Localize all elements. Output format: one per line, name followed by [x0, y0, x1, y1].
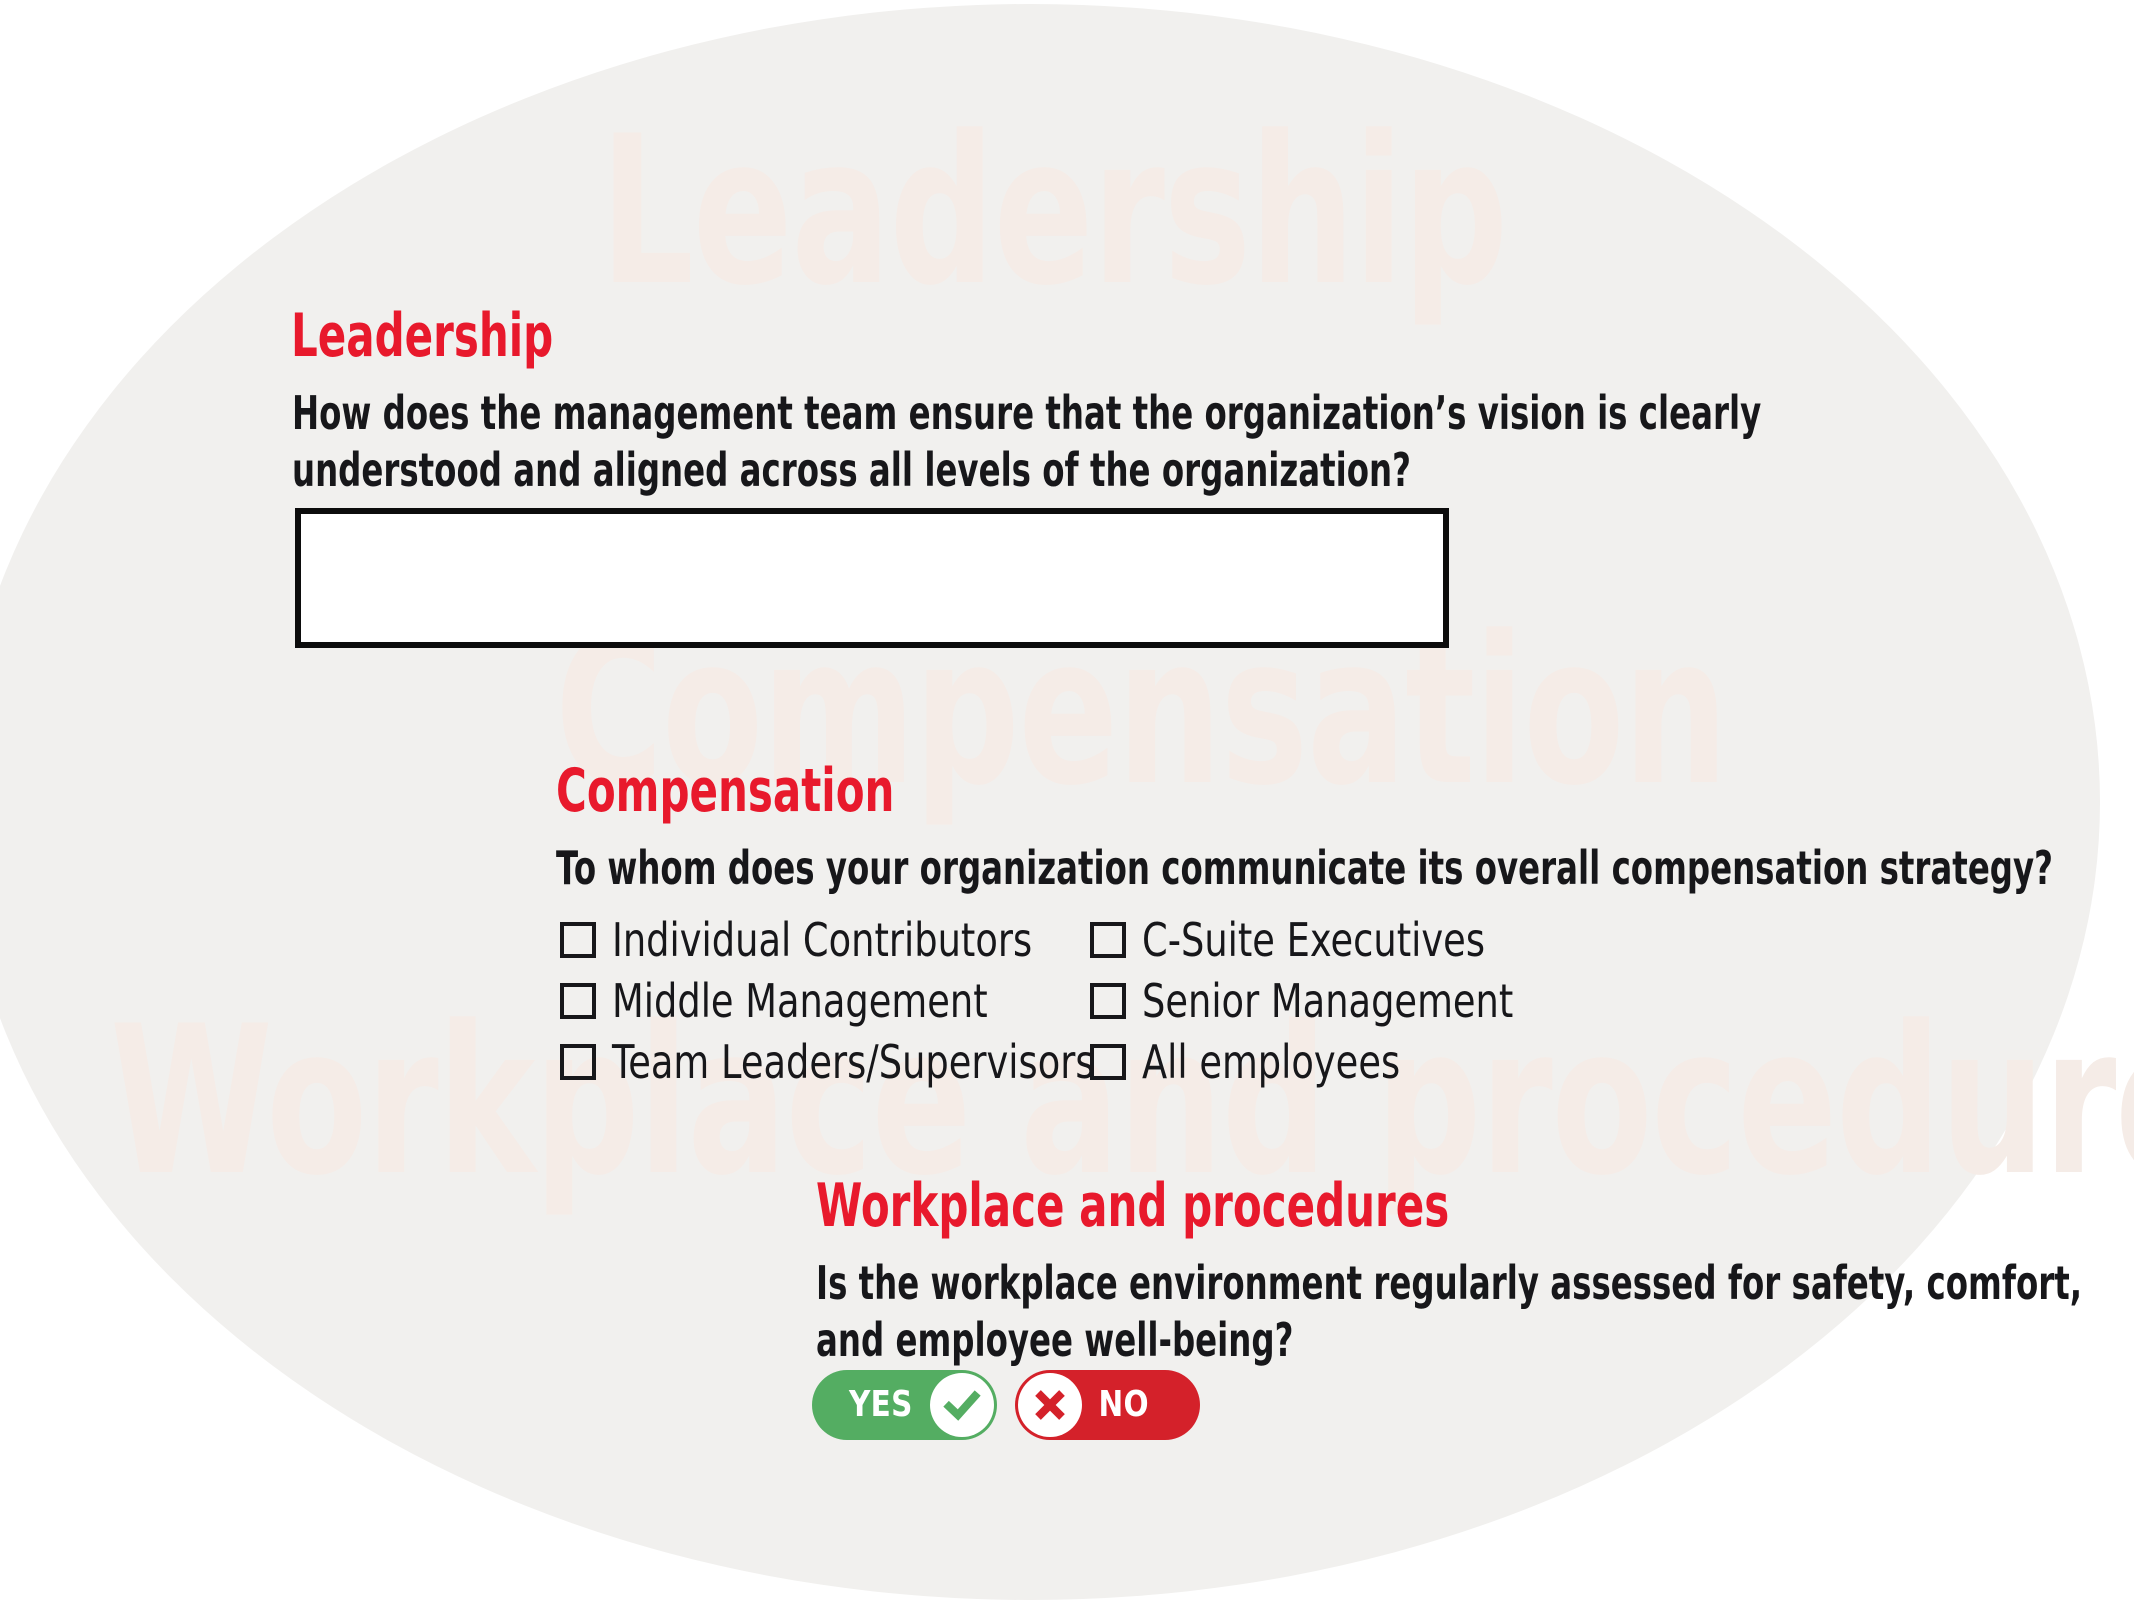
- section-title-workplace-and-procedures: Workplace and procedures: [816, 1175, 1449, 1238]
- workplace-question-line-1: Is the workplace environment regularly a…: [816, 1255, 2082, 1312]
- no-button-label: NO: [1099, 1387, 1149, 1423]
- checkbox-icon[interactable]: [1090, 1044, 1126, 1080]
- checkbox-label: Middle Management: [612, 978, 988, 1024]
- poster-canvas: Leadership Compensation Workplace and pr…: [0, 0, 2134, 1603]
- checkbox-row-c-suite-executives[interactable]: C-Suite Executives: [1090, 910, 1606, 970]
- checkbox-label: Individual Contributors: [612, 917, 1032, 963]
- workplace-answer-toggle-group: YES NO: [812, 1370, 1200, 1440]
- section-title-leadership: Leadership: [291, 305, 553, 368]
- cross-icon: [1018, 1373, 1082, 1437]
- checkbox-icon[interactable]: [560, 1044, 596, 1080]
- checkbox-label: Team Leaders/Supervisors: [612, 1039, 1095, 1085]
- workplace-question-line-2: and employee well-being?: [816, 1312, 2082, 1369]
- leadership-question-line-1: How does the management team ensure that…: [292, 385, 1761, 442]
- checkbox-row-senior-management[interactable]: Senior Management: [1090, 971, 1606, 1031]
- watermark-leadership: Leadership: [600, 110, 1507, 315]
- checkbox-icon[interactable]: [560, 922, 596, 958]
- section-question-leadership: How does the management team ensure that…: [292, 385, 1761, 499]
- section-title-compensation: Compensation: [556, 760, 894, 823]
- checkbox-icon[interactable]: [1090, 922, 1126, 958]
- checkbox-icon[interactable]: [1090, 983, 1126, 1019]
- checkbox-row-all-employees[interactable]: All employees: [1090, 1032, 1606, 1092]
- leadership-question-line-2: understood and aligned across all levels…: [292, 442, 1761, 499]
- checkbox-label: Senior Management: [1142, 978, 1513, 1024]
- no-button[interactable]: NO: [1015, 1370, 1200, 1440]
- yes-button-label: YES: [849, 1387, 913, 1423]
- check-icon: [930, 1373, 994, 1437]
- checkbox-icon[interactable]: [560, 983, 596, 1019]
- checkbox-label: All employees: [1142, 1039, 1400, 1085]
- compensation-options-right-column: C-Suite Executives Senior Management All…: [1090, 910, 1606, 1093]
- checkbox-label: C-Suite Executives: [1142, 917, 1485, 963]
- yes-button[interactable]: YES: [812, 1370, 997, 1440]
- leadership-answer-input[interactable]: [295, 508, 1449, 648]
- section-question-workplace: Is the workplace environment regularly a…: [816, 1255, 2082, 1369]
- section-question-compensation: To whom does your organization communica…: [556, 840, 2053, 897]
